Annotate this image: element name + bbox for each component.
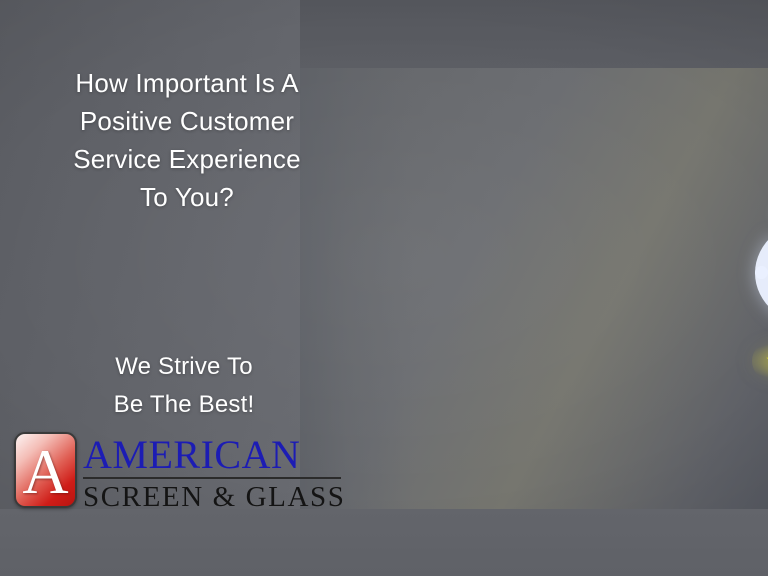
headline-line-1: How Important Is A: [22, 64, 352, 102]
tagline-line-1: We Strive To: [34, 348, 334, 386]
logo-badge-letter: A: [16, 437, 75, 507]
tagline-line-2: Be The Best!: [34, 386, 334, 424]
page-title: How Important Is A Positive Customer Ser…: [22, 64, 352, 216]
photo-bottom-band: [0, 509, 768, 576]
logo-company-tagline: SCREEN & GLASS: [83, 481, 346, 513]
logo-divider: [83, 477, 341, 479]
logo-company-name: AMERICAN: [83, 434, 346, 476]
company-logo[interactable]: A AMERICAN SCREEN & GLASS: [14, 432, 346, 513]
logo-badge-icon: A: [14, 432, 77, 508]
headline-line-3: Service Experience: [22, 140, 352, 178]
headline-line-4: To You?: [22, 178, 352, 216]
tagline: We Strive To Be The Best!: [34, 348, 334, 424]
headline-line-2: Positive Customer: [22, 102, 352, 140]
logo-wordmark: AMERICAN SCREEN & GLASS: [83, 432, 346, 513]
marketing-banner: How Important Is A Positive Customer Ser…: [0, 0, 768, 576]
